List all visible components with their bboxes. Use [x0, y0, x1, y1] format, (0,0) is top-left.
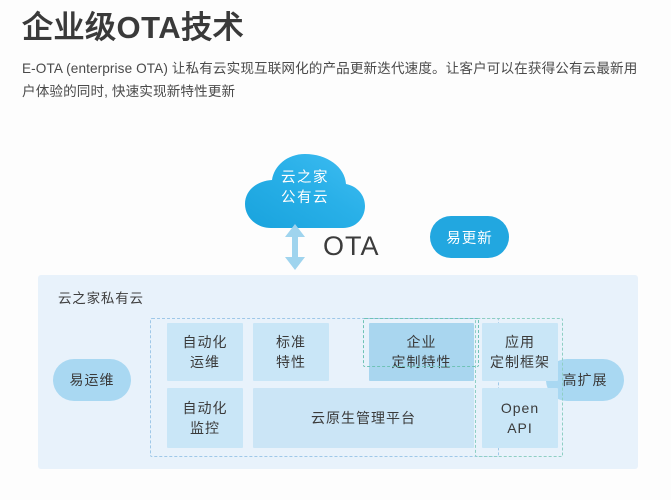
- private-cloud-title: 云之家私有云: [58, 287, 144, 307]
- page-title: 企业级OTA技术: [22, 8, 652, 48]
- tile-open-api-line2: API: [501, 418, 539, 438]
- ota-label: OTA: [323, 228, 380, 264]
- public-cloud-label: 云之家 公有云: [243, 168, 367, 208]
- tile-standard-features-line1: 标准: [276, 332, 306, 352]
- public-cloud-node: 云之家 公有云: [243, 150, 367, 232]
- tile-automated-ops: 自动化 运维: [167, 323, 243, 381]
- tile-standard-features-line2: 特性: [276, 352, 306, 372]
- badge-easy-update: 易更新: [430, 216, 509, 258]
- page-header: 企业级OTA技术 E-OTA (enterprise OTA) 让私有云实现互联…: [22, 8, 652, 103]
- public-cloud-line1: 云之家: [243, 168, 367, 188]
- tile-cloud-native-platform-label: 云原生管理平台: [311, 408, 416, 428]
- page-subtitle: E-OTA (enterprise OTA) 让私有云实现互联网化的产品更新迭代…: [22, 57, 642, 103]
- double-arrow-vertical-icon: [284, 224, 306, 270]
- badge-easy-ops: 易运维: [53, 359, 131, 401]
- tile-app-custom-framework: 应用 定制框架: [482, 323, 558, 381]
- tile-automated-monitoring: 自动化 监控: [167, 388, 243, 448]
- tile-standard-features: 标准 特性: [253, 323, 329, 381]
- tile-automated-ops-line1: 自动化: [183, 332, 228, 352]
- tile-open-api-line1: Open: [501, 398, 539, 418]
- ota-connector: OTA: [284, 224, 414, 272]
- tile-automated-ops-line2: 运维: [183, 352, 228, 372]
- private-cloud-panel: 云之家私有云 易运维 高扩展 自动化 运维 标准 特性 企业 定制特性 应用 定…: [38, 275, 638, 469]
- tile-app-custom-framework-line2: 定制框架: [490, 352, 550, 372]
- tile-app-custom-framework-line1: 应用: [490, 332, 550, 352]
- dashed-group-enterprise-highlight: [363, 318, 479, 367]
- tile-automated-monitoring-line1: 自动化: [183, 398, 228, 418]
- tile-open-api: Open API: [482, 388, 558, 448]
- tile-cloud-native-platform: 云原生管理平台: [253, 388, 474, 448]
- tile-automated-monitoring-line2: 监控: [183, 418, 228, 438]
- public-cloud-line2: 公有云: [243, 188, 367, 208]
